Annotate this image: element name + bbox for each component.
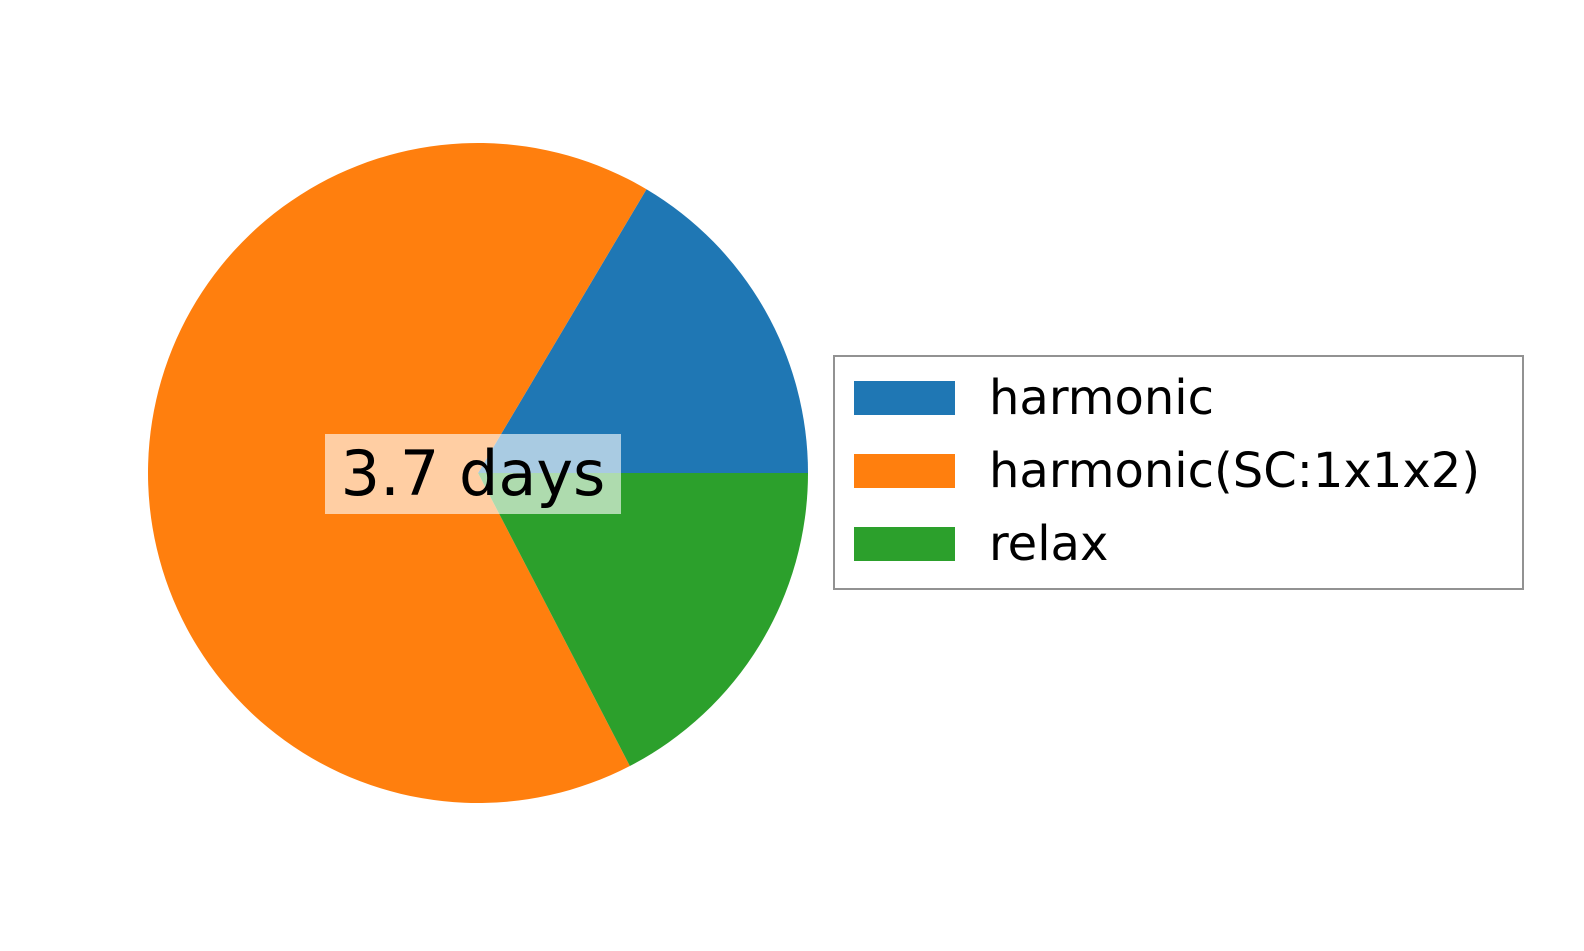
pie-chart-figure: 3.7 days harmonic harmonic(SC:1x1x2) rel…: [0, 0, 1584, 951]
legend-swatch-relax: [854, 527, 955, 561]
pie-center-label-text: 3.7 days: [341, 443, 606, 505]
pie-center-label-box: 3.7 days: [325, 434, 621, 514]
legend-item-harmonic[interactable]: harmonic: [854, 381, 1214, 415]
legend-label-relax: relax: [989, 520, 1108, 568]
legend-label-harmonic-sc: harmonic(SC:1x1x2): [989, 447, 1480, 495]
legend-swatch-harmonic: [854, 381, 955, 415]
legend-box: harmonic harmonic(SC:1x1x2) relax: [833, 355, 1524, 590]
legend-label-harmonic: harmonic: [989, 374, 1214, 422]
legend-item-relax[interactable]: relax: [854, 527, 1108, 561]
legend-swatch-harmonic-sc: [854, 454, 955, 488]
legend-item-harmonic-sc[interactable]: harmonic(SC:1x1x2): [854, 454, 1480, 488]
